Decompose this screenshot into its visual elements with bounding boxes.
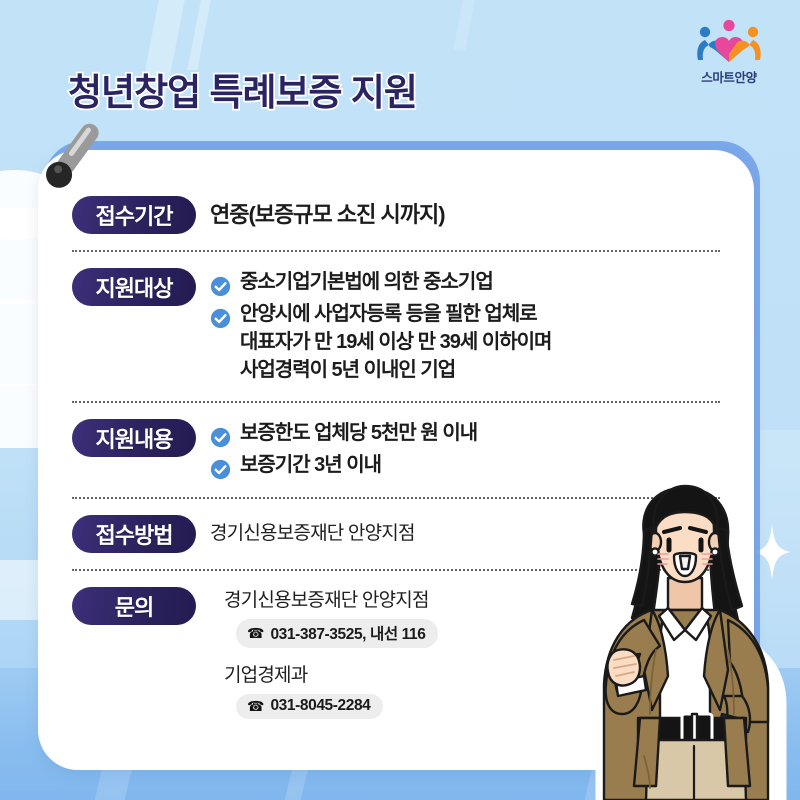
check-circle-icon	[210, 308, 231, 329]
section-body-eligibility: 중소기업기본법에 의한 중소기업안양시에 사업자등록 등을 필한 업체로대표자가…	[196, 268, 720, 387]
contact-phone[interactable]: ☎031-8045-2284	[236, 694, 383, 719]
logo: 스마트안양	[686, 18, 772, 86]
bullet-line: 보증한도 업체당 5천만 원 이내	[240, 419, 477, 447]
bg-streak	[187, 0, 214, 70]
bullet-item: 중소기업기본법에 의한 중소기업	[210, 268, 720, 297]
bullet-text: 보증기간 3년 이내	[240, 451, 381, 479]
bullet-text: 보증한도 업체당 5천만 원 이내	[240, 419, 477, 447]
businesswoman-illustration	[556, 470, 800, 800]
bullet-text: 안양시에 사업자등록 등을 필한 업체로대표자가 만 19세 이상 만 39세 …	[240, 300, 551, 384]
telephone-icon: ☎	[247, 699, 264, 713]
contact-phone-number: 031-387-3525, 내선 116	[270, 622, 425, 644]
section-badge-support-details: 지원내용	[72, 419, 196, 457]
bullet-text: 중소기업기본법에 의한 중소기업	[240, 268, 493, 296]
bullet-line: 사업경력이 5년 이내인 기업	[240, 356, 551, 384]
contact-phone-number: 031-8045-2284	[270, 697, 370, 715]
section-badge-inquiry: 문의	[72, 587, 196, 625]
telephone-icon: ☎	[247, 626, 264, 640]
section-eligibility: 지원대상중소기업기본법에 의한 중소기업안양시에 사업자등록 등을 필한 업체로…	[38, 252, 754, 401]
poster-canvas: 청년창업 특례보증 지원 스마트안양 접수기간연중(보증규모 소진 시까지)지원…	[0, 0, 800, 800]
bullet-line: 대표자가 만 19세 이상 만 39세 이하이며	[240, 328, 551, 356]
contact-phone[interactable]: ☎031-387-3525, 내선 116	[236, 619, 438, 648]
section-badge-application-period: 접수기간	[72, 196, 196, 234]
page-title: 청년창업 특례보증 지원	[68, 62, 417, 116]
check-circle-icon	[210, 459, 231, 480]
section-value: 연중(보증규모 소진 시까지)	[210, 196, 720, 234]
section-badge-application-method: 접수방법	[72, 515, 196, 553]
bullet-line: 보증기간 3년 이내	[240, 451, 381, 479]
smart-anyang-heart-people-logo-icon	[686, 18, 772, 64]
bg-streak	[453, 0, 479, 50]
section-badge-eligibility: 지원대상	[72, 268, 196, 306]
logo-label: 스마트안양	[686, 67, 772, 86]
bullet-item: 보증한도 업체당 5천만 원 이내	[210, 419, 720, 448]
section-application-period: 접수기간연중(보증규모 소진 시까지)	[38, 150, 754, 250]
check-circle-icon	[210, 276, 231, 297]
check-circle-icon	[210, 427, 231, 448]
bullet-line: 안양시에 사업자등록 등을 필한 업체로	[240, 300, 551, 328]
bullet-line: 중소기업기본법에 의한 중소기업	[240, 268, 493, 296]
bullet-item: 안양시에 사업자등록 등을 필한 업체로대표자가 만 19세 이상 만 39세 …	[210, 300, 720, 384]
section-body-application-period: 연중(보증규모 소진 시까지)	[196, 196, 720, 234]
